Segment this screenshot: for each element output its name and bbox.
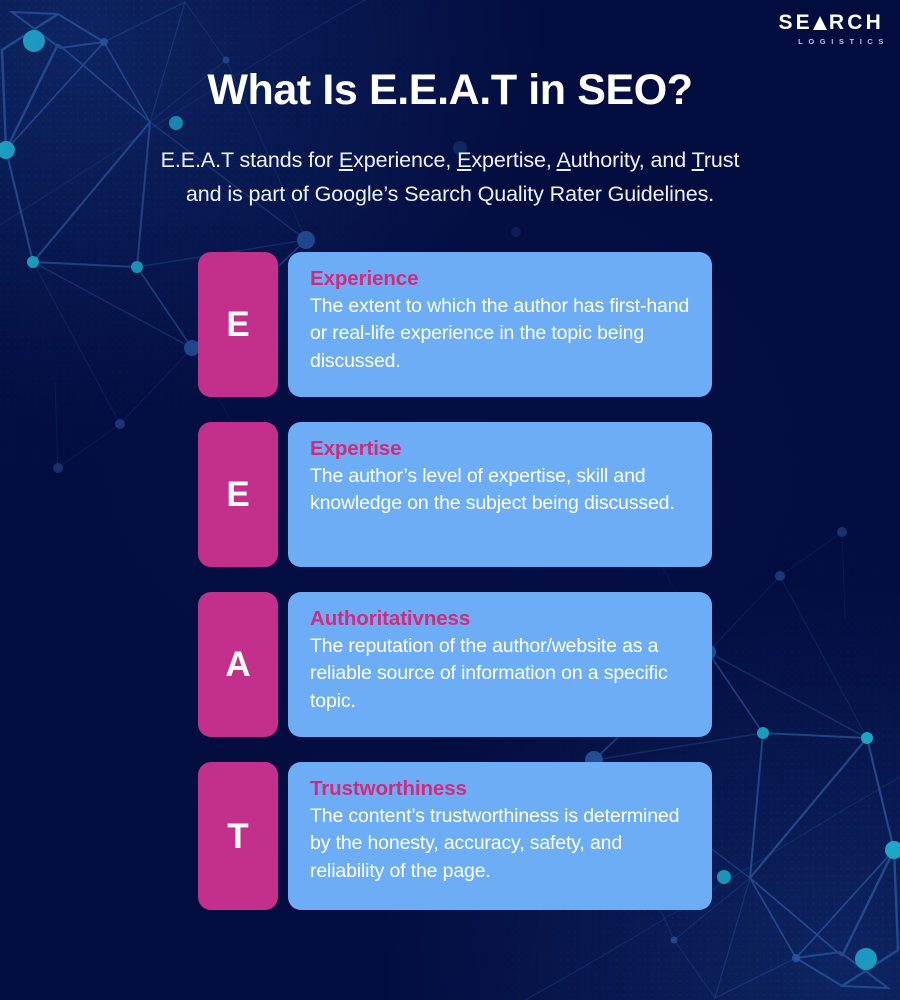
subtitle-lead: E.E.A.T stands for: [161, 148, 339, 172]
eeat-card-expertise: E Expertise The author’s level of expert…: [198, 422, 712, 567]
badge-letter-experience: E: [198, 252, 278, 397]
underline-t: T: [692, 148, 704, 172]
triangle-a-icon: [813, 15, 828, 30]
card-body-trustworthiness: Trustworthiness The content’s trustworth…: [288, 762, 712, 910]
underline-e2: E: [457, 148, 471, 172]
badge-letter-authoritativeness: A: [198, 592, 278, 737]
badge-letter-expertise: E: [198, 422, 278, 567]
card-text-experience: The extent to which the author has first…: [310, 293, 694, 375]
subtitle-term-3: uthority, and: [571, 148, 692, 172]
page-title: What Is E.E.A.T in SEO?: [0, 66, 900, 115]
underline-a: A: [556, 148, 570, 172]
card-title-trustworthiness: Trustworthiness: [310, 775, 694, 802]
brand-name-part-2: RCH: [829, 11, 884, 34]
card-text-expertise: The author’s level of expertise, skill a…: [310, 463, 694, 518]
eeat-card-trustworthiness: T Trustworthiness The content’s trustwor…: [198, 762, 712, 910]
card-title-expertise: Expertise: [310, 435, 694, 462]
brand-tagline: LOGISTICS: [778, 38, 889, 46]
page-subtitle: E.E.A.T stands for Experience, Expertise…: [0, 144, 900, 212]
subtitle-term-4: rust: [704, 148, 739, 172]
badge-letter-trustworthiness: T: [198, 762, 278, 910]
brand-name-part-1: SE: [778, 11, 812, 34]
card-body-expertise: Expertise The author’s level of expertis…: [288, 422, 712, 567]
card-title-experience: Experience: [310, 265, 694, 292]
subtitle-term-2: xpertise,: [471, 148, 556, 172]
subtitle-second-line: and is part of Google’s Search Quality R…: [186, 182, 714, 206]
eeat-card-list: E Experience The extent to which the aut…: [198, 252, 712, 910]
brand-name: SERCH: [778, 12, 884, 33]
card-body-experience: Experience The extent to which the autho…: [288, 252, 712, 397]
card-body-authoritativeness: Authoritativness The reputation of the a…: [288, 592, 712, 737]
brand-logo: SERCH LOGISTICS: [778, 12, 884, 46]
card-text-trustworthiness: The content’s trustworthiness is determi…: [310, 803, 694, 885]
card-text-authoritativeness: The reputation of the author/website as …: [310, 633, 694, 715]
card-title-authoritativeness: Authoritativness: [310, 605, 694, 632]
underline-e1: E: [339, 148, 353, 172]
eeat-card-experience: E Experience The extent to which the aut…: [198, 252, 712, 397]
eeat-card-authoritativeness: A Authoritativness The reputation of the…: [198, 592, 712, 737]
subtitle-term-1: xperience,: [353, 148, 457, 172]
